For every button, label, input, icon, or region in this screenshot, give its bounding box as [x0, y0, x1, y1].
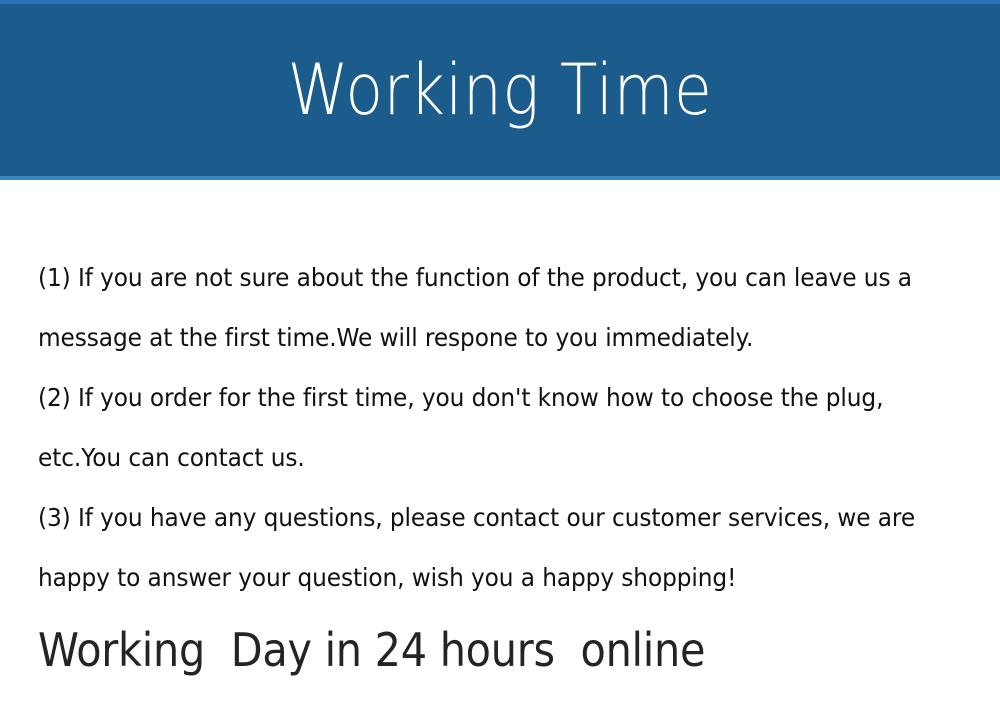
policy-line-3: (2) If you order for the first time, you…	[38, 368, 897, 428]
policy-lines: (1) If you are not sure about the functi…	[38, 180, 962, 608]
availability-headline: Working Day in 24 hours online	[38, 621, 870, 679]
policy-line-5: (3) If you have any questions, please co…	[38, 488, 897, 548]
working-time-banner: Working Time (1) If you are not sure abo…	[0, 0, 1000, 724]
policy-line-1: (1) If you are not sure about the functi…	[38, 248, 897, 308]
content-area: (1) If you are not sure about the functi…	[0, 180, 1000, 679]
policy-line-6: happy to answer your question, wish you …	[38, 548, 897, 608]
policy-line-4: etc.You can contact us.	[38, 428, 897, 488]
page-title: Working Time	[60, 0, 940, 180]
header-banner: Working Time	[0, 0, 1000, 180]
policy-line-2: message at the first time.We will respon…	[38, 308, 897, 368]
